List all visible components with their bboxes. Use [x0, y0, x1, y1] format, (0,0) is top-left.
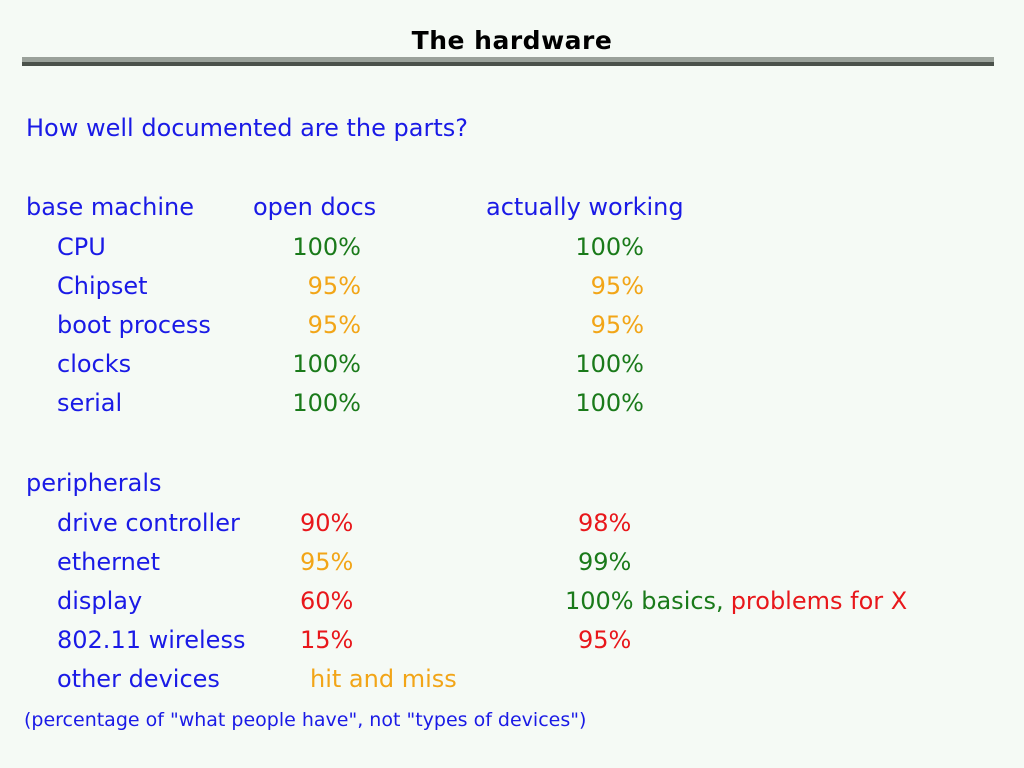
row-open-docs-value: 95% [253, 271, 361, 301]
table-row: serial 100% 100% [0, 388, 1024, 418]
row-working-value: 95% [536, 310, 644, 340]
row-working-value: 100% [536, 349, 644, 379]
group-heading-row: peripherals [0, 468, 1024, 498]
title-divider [22, 57, 994, 66]
row-label: boot process [57, 310, 211, 340]
table-row: boot process 95% 95% [0, 310, 1024, 340]
row-open-docs-value: hit and miss [310, 664, 457, 694]
row-open-docs-value: 100% [253, 388, 361, 418]
table-row: 802.11 wireless 15% 95% [0, 625, 1024, 655]
row-label: drive controller [57, 508, 240, 538]
table-row: Chipset 95% 95% [0, 271, 1024, 301]
row-working-value: 100% basics, [565, 587, 724, 615]
row-working-value: 100% [536, 388, 644, 418]
row-open-docs-value: 90% [300, 508, 353, 538]
row-label: ethernet [57, 547, 160, 577]
row-open-docs-value: 95% [300, 547, 353, 577]
column-header-open-docs: open docs [253, 192, 376, 222]
row-label: clocks [57, 349, 131, 379]
row-open-docs-value: 100% [253, 232, 361, 262]
row-working-value: 95% [578, 625, 631, 655]
slide-question: How well documented are the parts? [26, 114, 468, 142]
slide-footnote: (percentage of "what people have", not "… [24, 709, 586, 731]
row-open-docs-value: 60% [300, 586, 353, 616]
row-working-value: 98% [578, 508, 631, 538]
group-heading-peripherals: peripherals [26, 468, 162, 498]
row-working-value-group: 100% basics,problems for X [565, 586, 907, 616]
row-label: Chipset [57, 271, 148, 301]
row-open-docs-value: 95% [253, 310, 361, 340]
column-header-actually-working: actually working [486, 192, 684, 222]
row-label: CPU [57, 232, 106, 262]
table-row: drive controller 90% 98% [0, 508, 1024, 538]
row-open-docs-value: 15% [300, 625, 353, 655]
table-header-row: base machine open docs actually working [0, 192, 1024, 222]
row-working-note: problems for X [731, 587, 908, 615]
row-label: other devices [57, 664, 220, 694]
table-row: other devices hit and miss [0, 664, 1024, 694]
row-label: 802.11 wireless [57, 625, 245, 655]
row-label: display [57, 586, 142, 616]
row-open-docs-value: 100% [253, 349, 361, 379]
column-header-base-machine: base machine [26, 192, 194, 222]
row-working-value: 99% [578, 547, 631, 577]
row-working-value: 95% [536, 271, 644, 301]
table-row: ethernet 95% 99% [0, 547, 1024, 577]
table-row: display 60% 100% basics,problems for X [0, 586, 1024, 616]
table-row: CPU 100% 100% [0, 232, 1024, 262]
row-label: serial [57, 388, 122, 418]
slide-title: The hardware [0, 26, 1024, 55]
table-row: clocks 100% 100% [0, 349, 1024, 379]
row-working-value: 100% [536, 232, 644, 262]
